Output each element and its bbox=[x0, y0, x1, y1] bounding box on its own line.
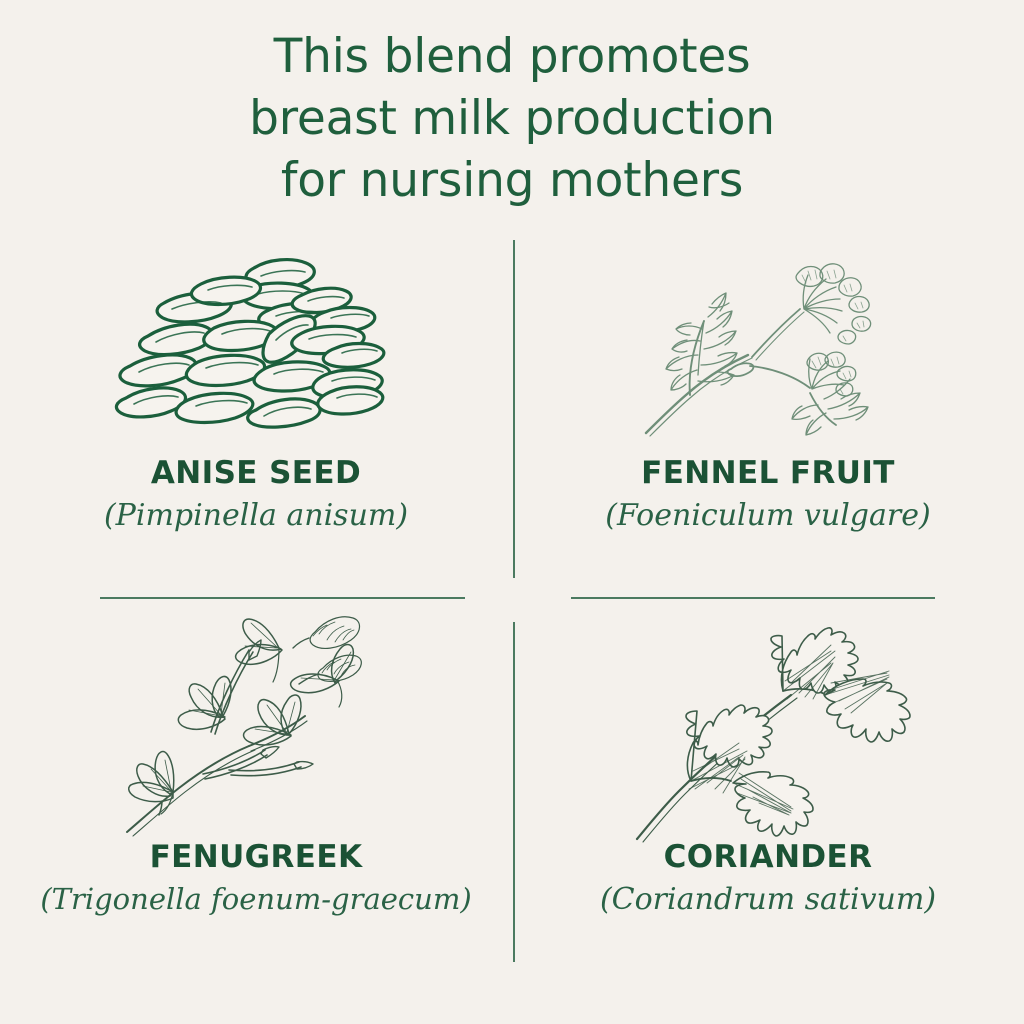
ingredient-latin-name: (Pimpinella anisum) bbox=[0, 498, 512, 533]
coriander-illustration bbox=[512, 610, 1024, 825]
ingredient-latin-name: (Foeniculum vulgare) bbox=[512, 498, 1024, 533]
ingredient-card-fenugreek: FENUGREEK (Trigonella foenum-graecum) bbox=[0, 610, 512, 916]
ingredient-name: FENUGREEK bbox=[0, 839, 512, 875]
infographic-canvas: This blend promotes breast milk producti… bbox=[0, 0, 1024, 1024]
page-title: This blend promotes breast milk producti… bbox=[0, 26, 1024, 212]
headline-line-2: breast milk production bbox=[0, 88, 1024, 150]
ingredient-card-fennel-fruit: FENNEL FRUIT (Foeniculum vulgare) bbox=[512, 232, 1024, 533]
ingredient-latin-name: (Trigonella foenum-graecum) bbox=[0, 882, 512, 916]
ingredient-name: ANISE SEED bbox=[0, 455, 512, 491]
ingredient-card-anise-seed: ANISE SEED (Pimpinella anisum) bbox=[0, 232, 512, 533]
headline-line-3: for nursing mothers bbox=[0, 150, 1024, 212]
fenugreek-illustration bbox=[0, 610, 512, 825]
anise-seed-illustration bbox=[0, 232, 512, 447]
ingredient-card-coriander: CORIANDER (Coriandrum sativum) bbox=[512, 610, 1024, 917]
headline-line-1: This blend promotes bbox=[0, 26, 1024, 88]
ingredient-latin-name: (Coriandrum sativum) bbox=[512, 882, 1024, 917]
ingredient-name: CORIANDER bbox=[512, 839, 1024, 875]
ingredient-name: FENNEL FRUIT bbox=[512, 455, 1024, 491]
fennel-fruit-illustration bbox=[512, 232, 1024, 447]
